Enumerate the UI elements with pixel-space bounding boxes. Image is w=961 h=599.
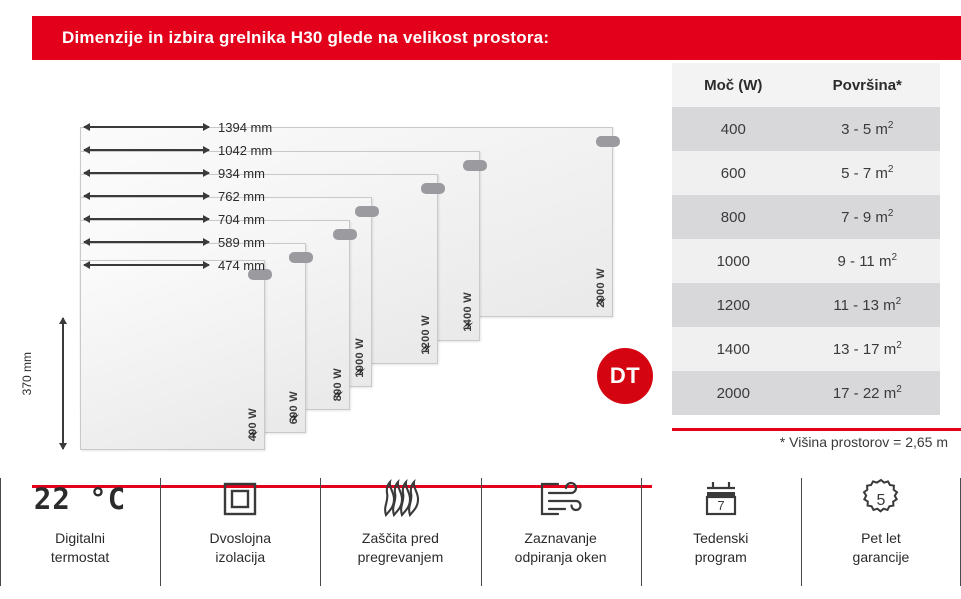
feature-double-insulation: Dvoslojna izolacija bbox=[160, 472, 320, 594]
column-header-area: Površina* bbox=[795, 63, 940, 107]
cell-area-range: 13 - 17 bbox=[833, 341, 880, 358]
dimension-label: 474 mm bbox=[218, 258, 265, 273]
lightning-bolt-icon bbox=[287, 410, 301, 424]
dt-badge: DT bbox=[597, 348, 653, 404]
dimension-arrow bbox=[84, 241, 209, 243]
cell-area: 9 - 11 m2 bbox=[795, 239, 940, 283]
lightning-bolt-icon bbox=[461, 318, 475, 332]
cell-area-exponent: 2 bbox=[896, 384, 902, 395]
cell-area-unit: m bbox=[875, 209, 888, 226]
dimension-label: 370 mm bbox=[20, 352, 34, 395]
lightning-bolt-icon bbox=[419, 341, 433, 355]
cell-power: 600 bbox=[672, 151, 795, 195]
cell-power: 1200 bbox=[672, 283, 795, 327]
power-area-table: Moč (W) Površina* 400 3 - 5 m2 600 5 - 7 bbox=[672, 63, 940, 415]
cell-area-exponent: 2 bbox=[896, 296, 902, 307]
lightning-bolt-icon bbox=[594, 294, 608, 308]
dimension-arrow bbox=[84, 264, 209, 266]
cell-area-range: 17 - 22 bbox=[833, 385, 880, 402]
page-title: Dimenzije in izbira grelnika H30 glede n… bbox=[32, 28, 549, 48]
table-bottom-rule bbox=[672, 428, 961, 431]
feature-label: Tedenski program bbox=[693, 529, 748, 567]
lightning-bolt-icon bbox=[331, 387, 345, 401]
feature-label: Zaščita pred pregrevanjem bbox=[358, 529, 444, 567]
dimension-row-1042: 1042 mm bbox=[84, 143, 272, 157]
cell-power: 1000 bbox=[672, 239, 795, 283]
table-row: 1000 9 - 11 m2 bbox=[672, 239, 940, 283]
overheat-protection-icon bbox=[379, 476, 421, 522]
cell-power: 800 bbox=[672, 195, 795, 239]
cell-area-exponent: 2 bbox=[891, 252, 897, 263]
weekly-program-icon: 7 bbox=[701, 476, 741, 522]
table-row: 400 3 - 5 m2 bbox=[672, 107, 940, 151]
cell-area-range: 9 - 11 bbox=[838, 253, 875, 270]
cell-area-unit: m bbox=[875, 165, 888, 182]
dimension-arrow-vertical bbox=[62, 318, 64, 449]
dimension-label: 934 mm bbox=[218, 166, 265, 181]
cell-area-range: 5 - 7 bbox=[841, 165, 871, 182]
cell-area: 13 - 17 m2 bbox=[795, 327, 940, 371]
cell-area: 11 - 13 m2 bbox=[795, 283, 940, 327]
lightning-bolt-icon bbox=[353, 364, 367, 378]
dimension-label: 1394 mm bbox=[218, 120, 272, 135]
column-header-power: Moč (W) bbox=[672, 63, 795, 107]
dimension-arrow bbox=[84, 195, 209, 197]
wall-bracket-icon bbox=[596, 136, 620, 147]
feature-weekly-program: 7 Tedenski program bbox=[641, 472, 801, 594]
dimension-row-704: 704 mm bbox=[84, 212, 265, 226]
cell-area: 17 - 22 m2 bbox=[795, 371, 940, 415]
feature-overheat-protection: Zaščita pred pregrevanjem bbox=[320, 472, 480, 594]
weekly-program-number: 7 bbox=[717, 498, 724, 513]
cell-area: 7 - 9 m2 bbox=[795, 195, 940, 239]
dimension-arrow bbox=[84, 126, 209, 128]
wall-bracket-icon bbox=[421, 183, 445, 194]
cell-area-unit: m bbox=[879, 253, 892, 270]
cell-area-unit: m bbox=[875, 121, 888, 138]
cell-power: 2000 bbox=[672, 371, 795, 415]
dimension-row-934: 934 mm bbox=[84, 166, 265, 180]
cell-area-exponent: 2 bbox=[888, 164, 894, 175]
table-row: 600 5 - 7 m2 bbox=[672, 151, 940, 195]
cell-area-range: 11 - 13 bbox=[833, 297, 879, 314]
panel-size-diagram: 2000 W 1400 W 1200 W 1000 W bbox=[0, 60, 660, 430]
dimension-row-589: 589 mm bbox=[84, 235, 265, 249]
feature-label: Pet let garancije bbox=[853, 529, 910, 567]
wall-bracket-icon bbox=[355, 206, 379, 217]
feature-digital-thermostat: 22 °C Digitalni termostat bbox=[0, 472, 160, 594]
feature-label: Digitalni termostat bbox=[51, 529, 109, 567]
wall-bracket-icon bbox=[333, 229, 357, 240]
dimension-arrow bbox=[84, 149, 209, 151]
lightning-bolt-icon bbox=[246, 427, 260, 441]
cell-area: 3 - 5 m2 bbox=[795, 107, 940, 151]
feature-warranty: 5 Pet let garancije bbox=[801, 472, 961, 594]
table-row: 1200 11 - 13 m2 bbox=[672, 283, 940, 327]
cell-area: 5 - 7 m2 bbox=[795, 151, 940, 195]
wall-bracket-icon bbox=[289, 252, 313, 263]
cell-area-range: 3 - 5 bbox=[841, 121, 871, 138]
digital-thermostat-icon: 22 °C bbox=[34, 476, 126, 522]
table-row: 1400 13 - 17 m2 bbox=[672, 327, 940, 371]
feature-row: 22 °C Digitalni termostat Dvoslojna izol… bbox=[0, 472, 961, 594]
dimension-arrow bbox=[84, 172, 209, 174]
temperature-readout: 22 °C bbox=[34, 482, 126, 516]
double-insulation-icon bbox=[221, 476, 259, 522]
dimension-label: 704 mm bbox=[218, 212, 265, 227]
warranty-5-years-icon: 5 bbox=[860, 476, 902, 522]
header-bar: Dimenzije in izbira grelnika H30 glede n… bbox=[32, 16, 961, 60]
feature-open-window-detection: Zaznavanje odpiranja oken bbox=[481, 472, 641, 594]
cell-area-range: 7 - 9 bbox=[841, 209, 871, 226]
wall-bracket-icon bbox=[463, 160, 487, 171]
dimension-row-762: 762 mm bbox=[84, 189, 265, 203]
dimension-row-474: 474 mm bbox=[84, 258, 265, 272]
warranty-years-number: 5 bbox=[876, 492, 885, 509]
feature-label: Dvoslojna izolacija bbox=[210, 529, 271, 567]
dimension-arrow bbox=[84, 218, 209, 220]
cell-area-exponent: 2 bbox=[896, 340, 902, 351]
cell-area-exponent: 2 bbox=[888, 208, 894, 219]
cell-area-unit: m bbox=[884, 385, 897, 402]
dimension-label: 762 mm bbox=[218, 189, 265, 204]
dimension-label: 1042 mm bbox=[218, 143, 272, 158]
main-content: 2000 W 1400 W 1200 W 1000 W bbox=[0, 60, 961, 430]
table-header-row: Moč (W) Površina* bbox=[672, 63, 940, 107]
table-row: 800 7 - 9 m2 bbox=[672, 195, 940, 239]
table-body: 400 3 - 5 m2 600 5 - 7 m2 800 bbox=[672, 107, 940, 415]
cell-area-unit: m bbox=[884, 341, 897, 358]
dimension-height-370: 370 mm bbox=[56, 318, 70, 449]
cell-area-unit: m bbox=[883, 297, 896, 314]
table-footnote: * Višina prostorov = 2,65 m bbox=[600, 434, 948, 450]
dimension-label: 589 mm bbox=[218, 235, 265, 250]
cell-area-exponent: 2 bbox=[888, 120, 894, 131]
dimension-row-1394: 1394 mm bbox=[84, 120, 272, 134]
cell-power: 400 bbox=[672, 107, 795, 151]
table-row: 2000 17 - 22 m2 bbox=[672, 371, 940, 415]
feature-label: Zaznavanje odpiranja oken bbox=[515, 529, 607, 567]
open-window-detect-icon bbox=[538, 476, 584, 522]
cell-power: 1400 bbox=[672, 327, 795, 371]
heater-panel-400w: 400 W bbox=[80, 260, 265, 450]
